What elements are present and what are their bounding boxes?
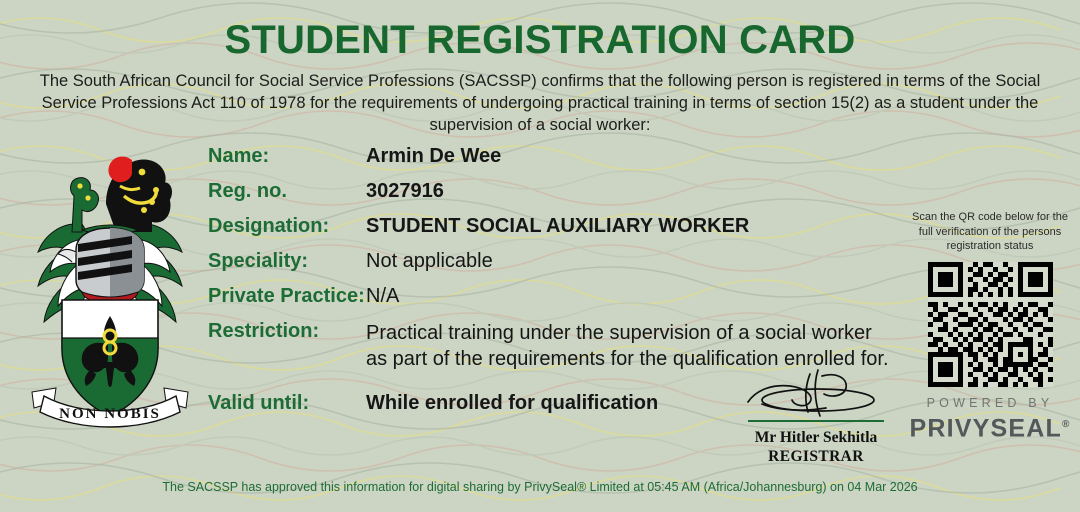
field-value: Practical training under the supervision… [366, 320, 896, 372]
powered-by-label: POWERED BY [900, 396, 1080, 410]
registered-mark: ® [1062, 419, 1071, 430]
field-value: N/A [366, 285, 399, 308]
field-label: Reg. no. [208, 180, 287, 203]
coat-of-arms-icon: NON NOBIS [20, 140, 200, 430]
qr-code-icon[interactable] [928, 262, 1053, 387]
registration-card: STUDENT REGISTRATION CARD The South Afri… [0, 0, 1080, 512]
intro-paragraph: The South African Council for Social Ser… [28, 70, 1052, 136]
signature-block: Mr Hitler Sekhitla REGISTRAR [700, 368, 932, 466]
field-row-speciality: Speciality: Not applicable [208, 250, 928, 285]
field-label: Name: [208, 145, 269, 168]
field-value: Not applicable [366, 250, 493, 273]
field-row-reg-no: Reg. no. 3027916 [208, 180, 928, 215]
field-row-name: Name: Armin De Wee [208, 145, 928, 180]
field-value: 3027916 [366, 180, 444, 203]
privyseal-brand: PRIVYSEAL® [900, 411, 1080, 442]
qr-caption: Scan the QR code below for the full veri… [910, 210, 1070, 254]
privyseal-wordmark: PRIVYSEAL [909, 414, 1062, 442]
registrar-role: REGISTRAR [700, 447, 932, 466]
verification-block: Scan the QR code below for the full veri… [900, 210, 1080, 442]
field-value: While enrolled for qualification [366, 392, 658, 415]
field-label: Designation: [208, 215, 329, 238]
field-value: STUDENT SOCIAL AUXILIARY WORKER [366, 215, 749, 238]
footer-note: The SACSSP has approved this information… [0, 480, 1080, 494]
field-label: Restriction: [208, 320, 319, 343]
field-value: Armin De Wee [366, 145, 501, 168]
signature-rule [748, 420, 884, 422]
field-label: Private Practice: [208, 285, 365, 308]
field-row-private-practice: Private Practice: N/A [208, 285, 928, 320]
field-label: Speciality: [208, 250, 308, 273]
page-title: STUDENT REGISTRATION CARD [0, 18, 1080, 62]
field-label: Valid until: [208, 392, 309, 415]
field-row-designation: Designation: STUDENT SOCIAL AUXILIARY WO… [208, 215, 928, 250]
signature-icon [726, 368, 906, 420]
registrar-name: Mr Hitler Sekhitla [700, 428, 932, 447]
crest-motto: NON NOBIS [59, 406, 161, 422]
